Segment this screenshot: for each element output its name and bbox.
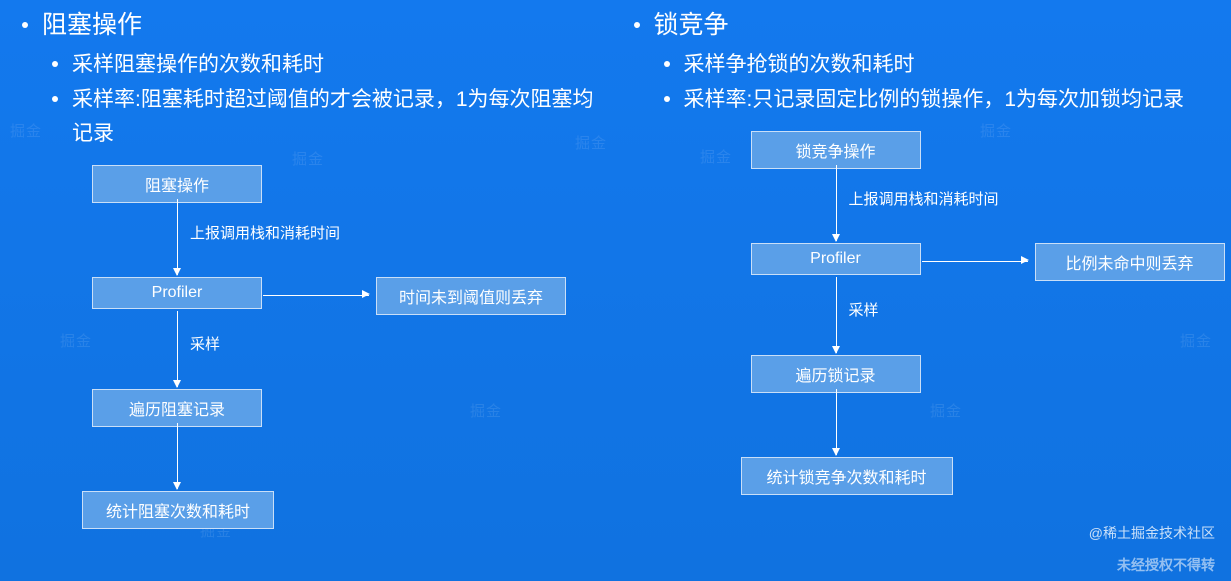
flow-node-blocking-operation[interactable]: 阻塞操作 (92, 165, 262, 203)
flow-node-statistics[interactable]: 统计阻塞次数和耗时 (82, 491, 274, 529)
bullet-dot-icon (52, 96, 58, 102)
flow-edge-label-report: 上报调用栈和消耗时间 (849, 188, 999, 209)
flow-edge-label-sampling: 采样 (849, 299, 879, 320)
flow-arrow-down-icon (177, 311, 178, 387)
flow-node-profiler[interactable]: Profiler (92, 277, 262, 309)
copyright-notice: 未经授权不得转 (1117, 555, 1215, 575)
flow-arrow-down-icon (177, 423, 178, 489)
community-credit: @稀土掘金技术社区 (1089, 523, 1215, 543)
column-blocking: 阻塞操作 采样阻塞操作的次数和耗时 采样率:阻塞耗时超过阈值的才会被记录，1为每… (0, 0, 616, 581)
flow-node-statistics[interactable]: 统计锁竞争次数和耗时 (741, 457, 953, 495)
bullet-title-blocking: 阻塞操作 采样阻塞操作的次数和耗时 采样率:阻塞耗时超过阈值的才会被记录，1为每… (14, 6, 606, 151)
bullet-list-blocking: 阻塞操作 采样阻塞操作的次数和耗时 采样率:阻塞耗时超过阈值的才会被记录，1为每… (14, 6, 606, 151)
flow-arrow-down-icon (177, 199, 178, 275)
flow-arrow-right-icon (922, 261, 1028, 262)
flow-arrow-down-icon (836, 389, 837, 455)
list-item: 采样率:阻塞耗时超过阈值的才会被记录，1为每次阻塞均记录 (42, 83, 606, 151)
column-title: 锁竞争 (654, 11, 729, 39)
sub-bullet-list: 采样争抢锁的次数和耗时 采样率:只记录固定比例的锁操作，1为每次加锁均记录 (654, 48, 1222, 117)
flowchart-blocking: 阻塞操作 上报调用栈和消耗时间 Profiler 时间未到阈值则丢弃 采样 遍历… (14, 165, 606, 465)
flow-edge-label-sampling: 采样 (190, 333, 220, 354)
bullet-dot-icon (22, 22, 28, 28)
flow-node-lock-operation[interactable]: 锁竞争操作 (751, 131, 921, 169)
bullet-dot-icon (664, 96, 670, 102)
slide-canvas: 掘金 掘金 掘金 掘金 掘金 掘金 掘金 掘金 掘金 掘金 阻塞操作 采样阻塞操… (0, 0, 1231, 581)
bullet-text: 采样率:只记录固定比例的锁操作，1为每次加锁均记录 (684, 88, 1185, 111)
sub-bullet-list: 采样阻塞操作的次数和耗时 采样率:阻塞耗时超过阈值的才会被记录，1为每次阻塞均记… (42, 48, 606, 151)
two-column-layout: 阻塞操作 采样阻塞操作的次数和耗时 采样率:阻塞耗时超过阈值的才会被记录，1为每… (0, 0, 1231, 581)
column-lock-contention: 锁竞争 采样争抢锁的次数和耗时 采样率:只记录固定比例的锁操作，1为每次加锁均记… (616, 0, 1231, 581)
bullet-dot-icon (634, 22, 640, 28)
flow-node-profiler[interactable]: Profiler (751, 243, 921, 275)
flow-arrow-down-icon (836, 277, 837, 353)
flow-arrow-down-icon (836, 165, 837, 241)
flow-edge-label-report: 上报调用栈和消耗时间 (190, 222, 340, 243)
flow-node-iterate-records[interactable]: 遍历阻塞记录 (92, 389, 262, 427)
list-item: 采样率:只记录固定比例的锁操作，1为每次加锁均记录 (654, 83, 1222, 117)
list-item: 采样争抢锁的次数和耗时 (654, 48, 1222, 82)
flow-node-discard[interactable]: 比例未命中则丢弃 (1035, 243, 1225, 281)
bullet-text: 采样阻塞操作的次数和耗时 (72, 53, 324, 76)
bullet-text: 采样争抢锁的次数和耗时 (684, 53, 915, 76)
bullet-title-lock: 锁竞争 采样争抢锁的次数和耗时 采样率:只记录固定比例的锁操作，1为每次加锁均记… (626, 6, 1222, 117)
bullet-text: 采样率:阻塞耗时超过阈值的才会被记录，1为每次阻塞均记录 (72, 88, 594, 145)
flowchart-lock: 锁竞争操作 上报调用栈和消耗时间 Profiler 比例未命中则丢弃 采样 遍历… (626, 131, 1222, 431)
flow-node-discard[interactable]: 时间未到阈值则丢弃 (376, 277, 566, 315)
list-item: 采样阻塞操作的次数和耗时 (42, 48, 606, 82)
flow-arrow-right-icon (263, 295, 369, 296)
bullet-dot-icon (52, 61, 58, 67)
bullet-list-lock: 锁竞争 采样争抢锁的次数和耗时 采样率:只记录固定比例的锁操作，1为每次加锁均记… (626, 6, 1222, 117)
bullet-dot-icon (664, 61, 670, 67)
flow-node-iterate-records[interactable]: 遍历锁记录 (751, 355, 921, 393)
column-title: 阻塞操作 (42, 11, 142, 39)
